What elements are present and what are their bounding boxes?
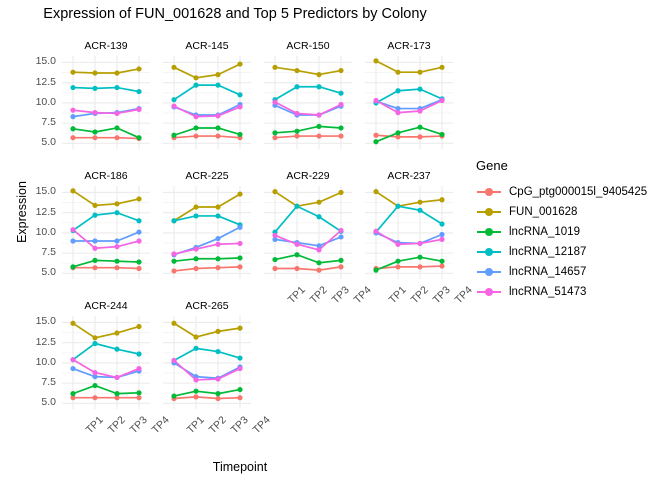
data-point-FUN_001628	[294, 68, 299, 73]
data-point-lncRNA_51473	[395, 242, 400, 247]
data-point-CpG_ptg000015l_9405425	[373, 133, 378, 138]
data-point-FUN_001628	[215, 72, 220, 77]
data-point-lncRNA_12187	[417, 208, 422, 213]
panel-plot-area	[62, 316, 150, 409]
x-tick-label: TP3	[431, 284, 453, 306]
data-point-lncRNA_1019	[114, 259, 119, 264]
data-point-lncRNA_1019	[316, 124, 321, 129]
data-point-FUN_001628	[193, 75, 198, 80]
data-point-lncRNA_51473	[294, 111, 299, 116]
series-line-lncRNA_12187	[174, 216, 240, 225]
legend-items: CpG_ptg000015l_9405425FUN_001628lncRNA_1…	[476, 182, 647, 302]
data-point-FUN_001628	[215, 329, 220, 334]
data-point-CpG_ptg000015l_9405425	[338, 133, 343, 138]
legend-item-label: lncRNA_1019	[509, 226, 580, 238]
x-tick-label: TP1	[286, 284, 308, 306]
legend-item-label: CpG_ptg000015l_9405425	[509, 186, 647, 198]
data-point-CpG_ptg000015l_9405425	[136, 266, 141, 271]
legend-item-label: lncRNA_14657	[509, 266, 586, 278]
data-point-lncRNA_1019	[114, 391, 119, 396]
y-tick-label: 15.0	[16, 315, 56, 327]
data-point-lncRNA_12187	[215, 349, 220, 354]
data-point-FUN_001628	[70, 188, 75, 193]
panel-plot-area	[62, 56, 150, 149]
data-point-lncRNA_1019	[193, 389, 198, 394]
data-point-lncRNA_12187	[439, 221, 444, 226]
series-line-lncRNA_14657	[376, 100, 442, 109]
data-point-lncRNA_51473	[136, 107, 141, 112]
data-point-lncRNA_12187	[136, 89, 141, 94]
data-point-lncRNA_51473	[237, 366, 242, 371]
data-point-CpG_ptg000015l_9405425	[439, 263, 444, 268]
series-line-lncRNA_12187	[174, 85, 240, 100]
data-point-lncRNA_51473	[417, 108, 422, 113]
data-point-lncRNA_12187	[395, 204, 400, 209]
series-line-lncRNA_12187	[376, 206, 442, 232]
data-point-lncRNA_14657	[70, 114, 75, 119]
data-point-lncRNA_12187	[193, 213, 198, 218]
data-point-lncRNA_1019	[417, 125, 422, 130]
data-point-lncRNA_51473	[272, 233, 277, 238]
data-point-lncRNA_51473	[237, 241, 242, 246]
data-point-lncRNA_51473	[395, 110, 400, 115]
x-tick-label: TP2	[409, 284, 431, 306]
data-point-lncRNA_12187	[114, 347, 119, 352]
data-point-FUN_001628	[272, 65, 277, 70]
data-point-CpG_ptg000015l_9405425	[92, 265, 97, 270]
facet-panel-acr-173: ACR-173	[365, 56, 453, 149]
data-point-lncRNA_14657	[338, 234, 343, 239]
data-point-CpG_ptg000015l_9405425	[193, 266, 198, 271]
data-point-FUN_001628	[70, 321, 75, 326]
x-tick-label: TP4	[150, 414, 172, 436]
data-point-FUN_001628	[373, 189, 378, 194]
data-point-lncRNA_1019	[338, 125, 343, 130]
data-point-lncRNA_1019	[136, 135, 141, 140]
series-line-lncRNA_51473	[174, 243, 240, 254]
series-line-lncRNA_12187	[275, 206, 341, 232]
facet-strip-label: ACR-244	[62, 299, 150, 314]
facet-strip-label: ACR-229	[264, 169, 352, 184]
series-line-lncRNA_14657	[174, 363, 240, 378]
series-line-CpG_ptg000015l_9405425	[275, 136, 341, 138]
data-point-lncRNA_1019	[92, 129, 97, 134]
data-point-lncRNA_51473	[70, 227, 75, 232]
series-line-lncRNA_1019	[174, 390, 240, 396]
data-point-FUN_001628	[373, 58, 378, 63]
series-line-CpG_ptg000015l_9405425	[174, 267, 240, 271]
data-point-CpG_ptg000015l_9405425	[338, 264, 343, 269]
series-line-FUN_001628	[73, 323, 139, 338]
data-point-lncRNA_51473	[171, 104, 176, 109]
data-point-FUN_001628	[439, 65, 444, 70]
data-point-lncRNA_51473	[114, 244, 119, 249]
facet-strip-label: ACR-145	[163, 39, 251, 54]
data-point-lncRNA_1019	[417, 255, 422, 260]
x-tick-label: TP3	[229, 414, 251, 436]
data-point-FUN_001628	[316, 200, 321, 205]
data-point-lncRNA_12187	[316, 214, 321, 219]
data-point-lncRNA_51473	[237, 104, 242, 109]
data-point-lncRNA_12187	[193, 83, 198, 88]
data-point-CpG_ptg000015l_9405425	[215, 265, 220, 270]
data-point-lncRNA_51473	[193, 246, 198, 251]
data-point-lncRNA_51473	[215, 242, 220, 247]
data-point-lncRNA_14657	[439, 232, 444, 237]
data-point-lncRNA_14657	[136, 229, 141, 234]
panel-plot-area	[264, 56, 352, 149]
facet-panel-acr-150: ACR-150	[264, 56, 352, 149]
data-point-lncRNA_1019	[373, 139, 378, 144]
y-tick-label: 5.0	[16, 396, 56, 408]
data-point-CpG_ptg000015l_9405425	[272, 266, 277, 271]
data-point-lncRNA_1019	[70, 264, 75, 269]
y-tick-label: 7.5	[16, 246, 56, 258]
data-point-lncRNA_14657	[70, 366, 75, 371]
data-point-lncRNA_1019	[114, 125, 119, 130]
data-point-lncRNA_51473	[70, 357, 75, 362]
panel-plot-area	[163, 186, 251, 279]
data-point-lncRNA_51473	[70, 108, 75, 113]
legend-key-icon	[476, 203, 502, 221]
data-point-FUN_001628	[395, 70, 400, 75]
data-point-lncRNA_1019	[171, 393, 176, 398]
data-point-CpG_ptg000015l_9405425	[316, 268, 321, 273]
data-point-CpG_ptg000015l_9405425	[92, 135, 97, 140]
data-point-lncRNA_51473	[338, 102, 343, 107]
facet-strip-label: ACR-237	[365, 169, 453, 184]
facet-panel-acr-265: ACR-265	[163, 316, 251, 409]
data-point-FUN_001628	[171, 65, 176, 70]
data-point-lncRNA_12187	[136, 218, 141, 223]
series-line-CpG_ptg000015l_9405425	[73, 268, 139, 269]
data-point-lncRNA_51473	[171, 251, 176, 256]
data-point-lncRNA_51473	[215, 376, 220, 381]
data-point-lncRNA_12187	[215, 213, 220, 218]
data-point-lncRNA_51473	[272, 99, 277, 104]
data-point-FUN_001628	[417, 200, 422, 205]
data-point-lncRNA_12187	[215, 83, 220, 88]
series-line-lncRNA_1019	[376, 127, 442, 142]
data-point-lncRNA_14657	[215, 236, 220, 241]
x-tick-label: TP1	[185, 414, 207, 436]
data-point-CpG_ptg000015l_9405425	[294, 266, 299, 271]
data-point-lncRNA_1019	[70, 126, 75, 131]
y-tick-label: 5.0	[16, 136, 56, 148]
data-point-lncRNA_51473	[215, 113, 220, 118]
facet-panel-acr-244: ACR-244	[62, 316, 150, 409]
data-point-lncRNA_51473	[136, 238, 141, 243]
data-point-FUN_001628	[171, 321, 176, 326]
facet-strip-label: ACR-225	[163, 169, 251, 184]
data-point-lncRNA_1019	[215, 256, 220, 261]
data-point-lncRNA_12187	[114, 210, 119, 215]
y-tick-label: 7.5	[16, 376, 56, 388]
legend-item-label: lncRNA_51473	[509, 286, 586, 298]
data-point-lncRNA_51473	[92, 246, 97, 251]
facet-panel-acr-229: ACR-229	[264, 186, 352, 279]
data-point-lncRNA_1019	[171, 133, 176, 138]
data-point-lncRNA_1019	[215, 125, 220, 130]
data-point-lncRNA_51473	[417, 241, 422, 246]
data-point-lncRNA_12187	[136, 351, 141, 356]
x-tick-label: TP4	[352, 284, 374, 306]
data-point-lncRNA_12187	[70, 85, 75, 90]
data-point-FUN_001628	[114, 330, 119, 335]
series-line-CpG_ptg000015l_9405425	[73, 138, 139, 139]
data-point-CpG_ptg000015l_9405425	[237, 395, 242, 400]
data-point-lncRNA_1019	[316, 260, 321, 265]
series-line-CpG_ptg000015l_9405425	[174, 136, 240, 138]
facet-panel-acr-237: ACR-237	[365, 186, 453, 279]
data-point-FUN_001628	[92, 335, 97, 340]
y-tick-label: 7.5	[16, 116, 56, 128]
series-line-lncRNA_1019	[275, 255, 341, 263]
series-line-lncRNA_51473	[73, 360, 139, 378]
data-point-lncRNA_1019	[237, 255, 242, 260]
series-line-lncRNA_1019	[174, 128, 240, 135]
data-point-FUN_001628	[136, 66, 141, 71]
series-line-lncRNA_12187	[73, 88, 139, 92]
y-tick-label: 12.5	[16, 336, 56, 348]
data-point-FUN_001628	[136, 196, 141, 201]
data-point-lncRNA_1019	[395, 130, 400, 135]
data-point-lncRNA_1019	[338, 258, 343, 263]
data-point-lncRNA_1019	[136, 259, 141, 264]
y-tick-label: 10.0	[16, 96, 56, 108]
data-point-lncRNA_12187	[193, 346, 198, 351]
data-point-FUN_001628	[316, 72, 321, 77]
data-point-FUN_001628	[338, 190, 343, 195]
data-point-FUN_001628	[136, 324, 141, 329]
data-point-FUN_001628	[193, 334, 198, 339]
data-point-lncRNA_12187	[92, 86, 97, 91]
data-point-CpG_ptg000015l_9405425	[171, 268, 176, 273]
panel-plot-area	[163, 316, 251, 409]
data-point-CpG_ptg000015l_9405425	[136, 395, 141, 400]
legend-key-icon	[476, 263, 502, 281]
series-line-lncRNA_1019	[73, 128, 139, 138]
data-point-lncRNA_12187	[338, 91, 343, 96]
data-point-lncRNA_1019	[92, 258, 97, 263]
data-point-lncRNA_1019	[237, 387, 242, 392]
series-line-lncRNA_1019	[73, 260, 139, 266]
data-point-FUN_001628	[114, 70, 119, 75]
series-line-lncRNA_12187	[275, 87, 341, 100]
y-tick-label: 5.0	[16, 266, 56, 278]
y-tick-label: 15.0	[16, 185, 56, 197]
data-point-lncRNA_51473	[373, 229, 378, 234]
panel-plot-area	[365, 186, 453, 279]
data-point-lncRNA_51473	[193, 114, 198, 119]
data-point-CpG_ptg000015l_9405425	[114, 265, 119, 270]
series-line-CpG_ptg000015l_9405425	[376, 135, 442, 137]
x-tick-label: TP4	[251, 414, 273, 436]
data-point-lncRNA_51473	[193, 377, 198, 382]
x-axis-title: Timepoint	[120, 460, 360, 474]
panel-plot-area	[62, 186, 150, 279]
data-point-lncRNA_12187	[395, 88, 400, 93]
x-tick-label: TP3	[330, 284, 352, 306]
data-point-CpG_ptg000015l_9405425	[294, 133, 299, 138]
data-point-lncRNA_14657	[114, 238, 119, 243]
data-point-lncRNA_1019	[272, 257, 277, 262]
data-point-CpG_ptg000015l_9405425	[395, 264, 400, 269]
data-point-CpG_ptg000015l_9405425	[237, 264, 242, 269]
data-point-lncRNA_1019	[215, 391, 220, 396]
facet-strip-label: ACR-186	[62, 169, 150, 184]
data-point-lncRNA_51473	[373, 98, 378, 103]
data-point-lncRNA_51473	[439, 98, 444, 103]
series-line-FUN_001628	[275, 67, 341, 74]
data-point-FUN_001628	[114, 201, 119, 206]
data-point-lncRNA_51473	[316, 112, 321, 117]
series-line-lncRNA_1019	[73, 386, 139, 394]
data-point-lncRNA_12187	[316, 84, 321, 89]
data-point-CpG_ptg000015l_9405425	[70, 135, 75, 140]
data-point-FUN_001628	[70, 70, 75, 75]
data-point-lncRNA_14657	[237, 225, 242, 230]
data-point-FUN_001628	[92, 203, 97, 208]
faceted-line-chart: Expression of FUN_001628 and Top 5 Predi…	[0, 0, 672, 480]
y-tick-label: 10.0	[16, 226, 56, 238]
data-point-CpG_ptg000015l_9405425	[215, 396, 220, 401]
data-point-lncRNA_12187	[237, 92, 242, 97]
data-point-lncRNA_1019	[272, 130, 277, 135]
data-point-FUN_001628	[417, 70, 422, 75]
data-point-lncRNA_51473	[114, 111, 119, 116]
data-point-FUN_001628	[237, 191, 242, 196]
panel-plot-area	[264, 186, 352, 279]
data-point-FUN_001628	[237, 326, 242, 331]
series-line-FUN_001628	[275, 192, 341, 207]
series-line-FUN_001628	[73, 191, 139, 206]
data-point-FUN_001628	[193, 204, 198, 209]
series-line-lncRNA_1019	[174, 258, 240, 261]
facet-strip-label: ACR-173	[365, 39, 453, 54]
data-point-lncRNA_12187	[294, 84, 299, 89]
data-point-lncRNA_1019	[237, 132, 242, 137]
x-tick-label: TP1	[387, 284, 409, 306]
y-tick-label: 12.5	[16, 206, 56, 218]
x-tick-label: TP2	[207, 414, 229, 436]
data-point-lncRNA_14657	[70, 238, 75, 243]
data-point-CpG_ptg000015l_9405425	[215, 133, 220, 138]
data-point-CpG_ptg000015l_9405425	[316, 133, 321, 138]
legend: Gene CpG_ptg000015l_9405425FUN_001628lnc…	[476, 158, 647, 302]
series-line-lncRNA_1019	[275, 126, 341, 132]
data-point-CpG_ptg000015l_9405425	[193, 394, 198, 399]
data-point-lncRNA_12187	[92, 341, 97, 346]
legend-key-icon	[476, 223, 502, 241]
chart-title: Expression of FUN_001628 and Top 5 Predi…	[0, 6, 470, 22]
facet-panel-acr-139: ACR-139	[62, 56, 150, 149]
legend-item-label: FUN_001628	[509, 206, 577, 218]
data-point-lncRNA_51473	[294, 242, 299, 247]
series-line-lncRNA_14657	[174, 105, 240, 116]
data-point-lncRNA_12187	[114, 85, 119, 90]
facet-strip-label: ACR-150	[264, 39, 352, 54]
y-tick-label: 10.0	[16, 356, 56, 368]
facet-panel-acr-225: ACR-225	[163, 186, 251, 279]
data-point-CpG_ptg000015l_9405425	[417, 264, 422, 269]
legend-item-FUN_001628[interactable]: FUN_001628	[476, 202, 647, 222]
series-line-lncRNA_12187	[376, 89, 442, 103]
data-point-lncRNA_1019	[395, 259, 400, 264]
data-point-FUN_001628	[272, 189, 277, 194]
data-point-lncRNA_12187	[171, 97, 176, 102]
x-tick-label: TP2	[308, 284, 330, 306]
panel-plot-area	[365, 56, 453, 149]
data-point-lncRNA_51473	[439, 237, 444, 242]
legend-title: Gene	[476, 158, 647, 173]
legend-item-CpG_ptg000015l_9405425[interactable]: CpG_ptg000015l_9405425	[476, 182, 647, 202]
x-tick-label: TP1	[84, 414, 106, 436]
data-point-lncRNA_51473	[338, 228, 343, 233]
series-line-FUN_001628	[174, 64, 240, 78]
legend-key-icon	[476, 283, 502, 301]
data-point-lncRNA_12187	[294, 204, 299, 209]
data-point-lncRNA_51473	[114, 375, 119, 380]
data-point-lncRNA_1019	[193, 256, 198, 261]
data-point-FUN_001628	[237, 61, 242, 66]
series-line-lncRNA_12187	[73, 343, 139, 359]
data-point-lncRNA_12187	[237, 355, 242, 360]
data-point-lncRNA_1019	[439, 132, 444, 137]
facet-strip-label: ACR-265	[163, 299, 251, 314]
data-point-FUN_001628	[92, 70, 97, 75]
facet-strip-label: ACR-139	[62, 39, 150, 54]
data-point-FUN_001628	[338, 68, 343, 73]
legend-item-label: lncRNA_12187	[509, 246, 586, 258]
data-point-lncRNA_1019	[294, 129, 299, 134]
facet-panel-acr-186: ACR-186	[62, 186, 150, 279]
data-point-lncRNA_1019	[193, 125, 198, 130]
data-point-lncRNA_51473	[171, 358, 176, 363]
series-line-lncRNA_51473	[376, 100, 442, 112]
data-point-lncRNA_1019	[439, 259, 444, 264]
y-tick-label: 15.0	[16, 55, 56, 67]
facet-panel-acr-145: ACR-145	[163, 56, 251, 149]
series-line-FUN_001628	[376, 192, 442, 207]
data-point-lncRNA_51473	[136, 366, 141, 371]
data-point-lncRNA_12187	[171, 218, 176, 223]
data-point-lncRNA_51473	[92, 370, 97, 375]
x-tick-label: TP2	[106, 414, 128, 436]
data-point-lncRNA_1019	[70, 391, 75, 396]
data-point-CpG_ptg000015l_9405425	[272, 135, 277, 140]
data-point-lncRNA_51473	[316, 247, 321, 252]
data-point-lncRNA_12187	[92, 213, 97, 218]
data-point-lncRNA_1019	[294, 252, 299, 257]
legend-key-icon	[476, 243, 502, 261]
panel-plot-area	[163, 56, 251, 149]
legend-item-lncRNA_14657[interactable]: lncRNA_14657	[476, 262, 647, 282]
data-point-lncRNA_14657	[92, 238, 97, 243]
legend-item-lncRNA_1019[interactable]: lncRNA_1019	[476, 222, 647, 242]
data-point-lncRNA_12187	[417, 87, 422, 92]
series-line-CpG_ptg000015l_9405425	[275, 267, 341, 270]
legend-item-lncRNA_51473[interactable]: lncRNA_51473	[476, 282, 647, 302]
x-tick-label: TP3	[128, 414, 150, 436]
y-tick-label: 12.5	[16, 76, 56, 88]
legend-item-lncRNA_12187[interactable]: lncRNA_12187	[476, 242, 647, 262]
series-line-lncRNA_12187	[73, 213, 139, 231]
series-line-lncRNA_14657	[174, 227, 240, 254]
data-point-CpG_ptg000015l_9405425	[193, 133, 198, 138]
data-point-FUN_001628	[439, 197, 444, 202]
data-point-lncRNA_1019	[373, 268, 378, 273]
